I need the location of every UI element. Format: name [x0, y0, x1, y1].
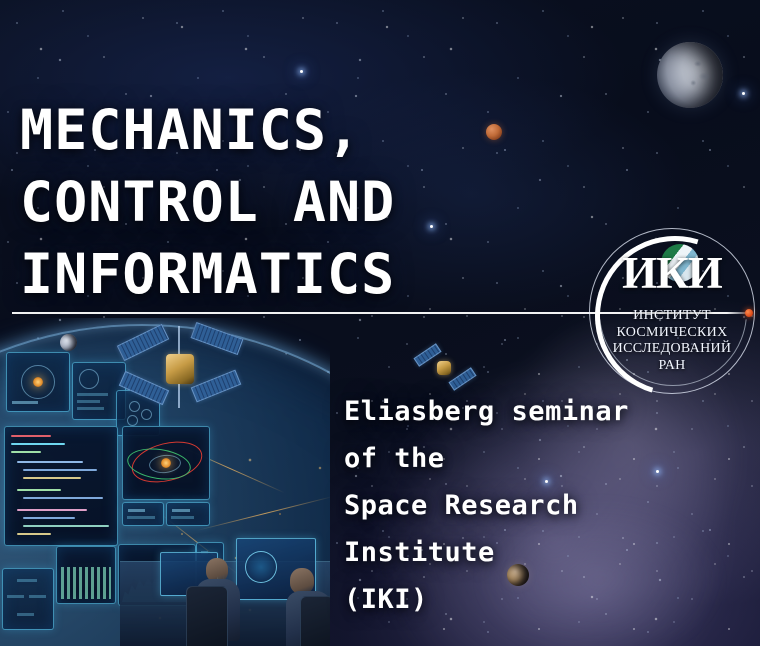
code-line: [11, 443, 65, 445]
panel-caption: [12, 401, 38, 404]
antenna-boom: [178, 382, 180, 408]
code-line: [11, 435, 51, 437]
code-line: [17, 533, 51, 535]
satellite-body: [437, 361, 451, 375]
orbital-diagram-panel: [122, 426, 210, 500]
moon-icon: [657, 42, 723, 108]
flow-node: [17, 613, 34, 616]
satellite-secondary-icon: [414, 342, 474, 394]
code-line: [23, 477, 81, 479]
radar-icon: [245, 551, 277, 583]
operator-chair: [186, 586, 228, 646]
code-line: [23, 497, 103, 499]
code-line: [11, 451, 41, 453]
seminar-poster: MECHANICS, CONTROL AND INFORMATICS Elias…: [0, 0, 760, 646]
gauge-core: [33, 377, 43, 387]
seminar-subtitle: Eliasberg seminar of the Space Research …: [344, 388, 756, 623]
solar-panel: [191, 370, 241, 403]
bar-chart: [61, 567, 111, 599]
code-line: [23, 469, 97, 471]
code-line: [23, 517, 75, 519]
spectrum-chart-panel: [56, 546, 116, 604]
central-body: [161, 458, 171, 468]
panel-caption: [128, 509, 145, 512]
antenna-boom: [178, 326, 180, 356]
logo-institute-text: ИНСТИТУТ КОСМИЧЕСКИХ ИССЛЕДОВАНИЙ РАН: [589, 308, 755, 374]
readout-bar: [77, 407, 104, 410]
readout-bar: [77, 393, 108, 396]
code-line: [17, 509, 87, 511]
flow-node: [17, 579, 37, 582]
code-line: [17, 461, 83, 463]
readout-bar: [77, 400, 100, 403]
status-bar: [171, 516, 194, 519]
status-panel: [166, 502, 210, 526]
bright-star: [300, 70, 303, 73]
status-panel: [122, 502, 164, 526]
solar-panel: [191, 322, 244, 355]
logo-acronym: ИКИ: [589, 250, 755, 296]
code-line: [17, 489, 61, 491]
page-title: MECHANICS, CONTROL AND INFORMATICS: [20, 94, 560, 310]
orbit-diagram: [123, 427, 209, 499]
solar-panel: [117, 324, 169, 361]
status-bar: [127, 516, 155, 519]
panel-caption: [172, 509, 190, 512]
flow-node: [7, 595, 24, 598]
iki-logo: ИКИ ИНСТИТУТ КОСМИЧЕСКИХ ИССЛЕДОВАНИЙ РА…: [589, 228, 755, 394]
satellite-main-icon: [118, 318, 240, 418]
telemetry-gauge-panel: [6, 352, 70, 412]
solar-panel: [119, 371, 169, 405]
code-editor-panel: [4, 426, 118, 546]
bright-star: [742, 92, 745, 95]
flow-node: [29, 595, 46, 598]
readout-ring: [79, 369, 99, 389]
satellite-body: [166, 354, 194, 384]
operator-chair: [300, 596, 330, 646]
flowchart-panel: [2, 568, 54, 630]
tiny-moon-icon: [60, 334, 77, 351]
code-line: [23, 525, 109, 527]
